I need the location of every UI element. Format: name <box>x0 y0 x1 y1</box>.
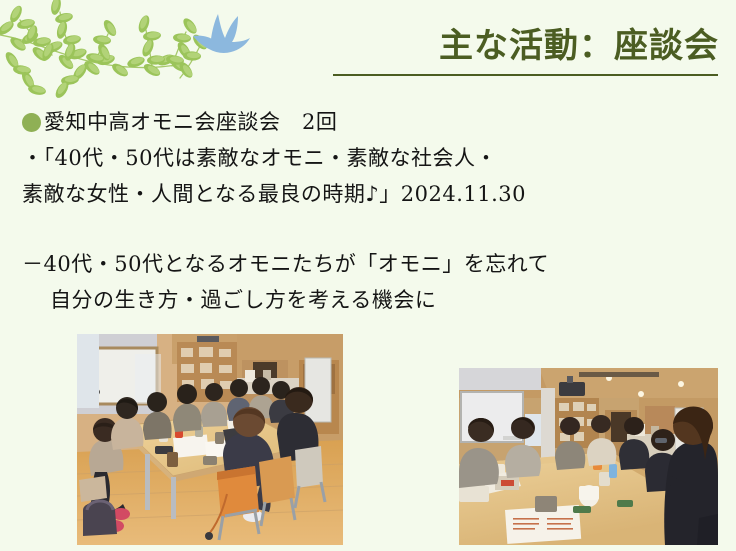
page-title: 主な活動：座談会 <box>333 24 719 68</box>
title-underline <box>333 74 718 76</box>
green-bullet-icon <box>22 113 41 132</box>
bird-icon <box>190 8 258 60</box>
photo-meeting-room-wide <box>77 334 343 545</box>
paragraph-gap <box>22 212 716 246</box>
bullet-heading-row: 愛知中高オモニ会座談会 2回 <box>22 104 716 140</box>
leaf-branch-icon <box>0 0 210 108</box>
body-content: 愛知中高オモニ会座談会 2回 ・「40代・50代は素敵なオモニ・素敵な社会人・ … <box>22 104 716 318</box>
photo-meeting-room-close <box>459 368 718 545</box>
note-line-2: 自分の生き方・過ごし方を考える機会に <box>22 282 716 318</box>
slide-canvas: 主な活動：座談会 愛知中高オモニ会座談会 2回 ・「40代・50代は素敵なオモニ… <box>0 0 736 551</box>
quote-line-1: ・「40代・50代は素敵なオモニ・素敵な社会人・ <box>22 140 716 176</box>
note-line-1: －40代・50代となるオモニたちが「オモニ」を忘れて <box>22 246 716 282</box>
page-title-text: 主な活動：座談会 <box>333 24 719 68</box>
quote-line-2: 素敵な女性・人間となる最良の時期♪」2024.11.30 <box>22 176 716 212</box>
bullet-heading-text: 愛知中高オモニ会座談会 2回 <box>44 104 337 140</box>
